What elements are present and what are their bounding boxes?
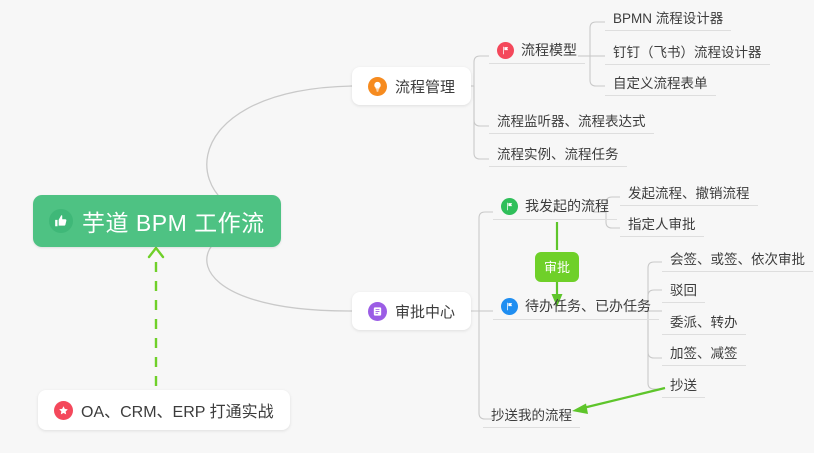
topic-label-listener-expression: 流程监听器、流程表达式: [497, 110, 646, 130]
topic-label-bpmn-designer: BPMN 流程设计器: [613, 7, 723, 27]
topic-label-countersign: 会签、或签、依次审批: [670, 248, 805, 268]
topic-assignee-approve[interactable]: 指定人审批: [620, 213, 704, 237]
topic-todo-done-task[interactable]: 待办任务、已办任务: [493, 296, 659, 320]
topic-label-todo-done-task: 待办任务、已办任务: [525, 296, 651, 316]
topic-cc-my-process[interactable]: 抄送我的流程: [483, 404, 580, 428]
branch-label-shenpi-zhongxin: 审批中心: [395, 301, 455, 322]
approve-badge: 审批: [535, 252, 579, 282]
bottom-note-label: OA、CRM、ERP 打通实战: [81, 398, 274, 422]
lightbulb-icon: [368, 77, 387, 96]
branch-node-shenpi-zhongxin[interactable]: 审批中心: [352, 292, 471, 330]
topic-label-delegate-transfer: 委派、转办: [670, 311, 738, 331]
topic-label-cc-my-process: 抄送我的流程: [491, 404, 572, 424]
approve-badge-label: 审批: [544, 260, 570, 275]
topic-listener-expression[interactable]: 流程监听器、流程表达式: [489, 110, 654, 134]
topic-dingding-feishu-designer[interactable]: 钉钉（飞书）流程设计器: [605, 41, 770, 65]
topic-reject[interactable]: 驳回: [662, 279, 705, 303]
star-icon: [54, 401, 73, 420]
flag-icon: [501, 198, 518, 215]
root-label: 芋道 BPM 工作流: [82, 204, 265, 238]
bottom-note-node[interactable]: OA、CRM、ERP 打通实战: [38, 390, 290, 430]
topic-label-assignee-approve: 指定人审批: [628, 213, 696, 233]
link-mx-to-form: [590, 56, 605, 86]
link-mx-to-bpmn: [590, 22, 605, 56]
link-lg-to-moxing: [474, 56, 489, 86]
thumbs-up-icon: [49, 209, 73, 233]
mindmap-canvas: 芋道 BPM 工作流 流程管理 流程模型 流程监听器、流程表达式 流程实例、流程…: [0, 0, 814, 453]
branch-node-liucheng-guanli[interactable]: 流程管理: [352, 67, 471, 105]
topic-label-cc: 抄送: [670, 374, 697, 394]
topic-label-add-remove-sign: 加签、减签: [670, 342, 738, 362]
note-icon: [368, 302, 387, 321]
arrowhead-note-to-root: [149, 248, 163, 257]
topic-label-dingding-feishu-designer: 钉钉（飞书）流程设计器: [613, 41, 762, 61]
topic-liucheng-moxing[interactable]: 流程模型: [489, 40, 585, 64]
topic-label-instance-task: 流程实例、流程任务: [497, 143, 619, 163]
topic-bpmn-designer[interactable]: BPMN 流程设计器: [605, 7, 731, 31]
link-lg-to-listener: [474, 86, 489, 126]
topic-label-liucheng-moxing: 流程模型: [521, 40, 577, 60]
topic-add-remove-sign[interactable]: 加签、减签: [662, 342, 746, 366]
topic-cc[interactable]: 抄送: [662, 374, 705, 398]
arrow-cc-to-ccmy: [583, 388, 665, 408]
link-lg-to-instance: [474, 86, 489, 159]
link-sz-to-mystart: [479, 212, 493, 311]
topic-delegate-transfer[interactable]: 委派、转办: [662, 311, 746, 335]
topic-label-reject: 驳回: [670, 279, 697, 299]
topic-countersign[interactable]: 会签、或签、依次审批: [662, 248, 813, 272]
topic-start-cancel-process[interactable]: 发起流程、撤销流程: [620, 182, 758, 206]
topic-label-my-started-process: 我发起的流程: [525, 196, 609, 216]
topic-custom-process-form[interactable]: 自定义流程表单: [605, 72, 716, 96]
topic-instance-task[interactable]: 流程实例、流程任务: [489, 143, 627, 167]
branch-label-liucheng-guanli: 流程管理: [395, 76, 455, 97]
topic-my-started-process[interactable]: 我发起的流程: [493, 196, 617, 220]
link-sz-to-ccmy: [479, 311, 493, 419]
topic-label-custom-process-form: 自定义流程表单: [613, 72, 708, 92]
flag-icon: [497, 42, 514, 59]
root-node[interactable]: 芋道 BPM 工作流: [33, 195, 281, 247]
flag-icon: [501, 298, 518, 315]
topic-label-start-cancel-process: 发起流程、撤销流程: [628, 182, 750, 202]
link-td-to-cc: [648, 311, 662, 389]
